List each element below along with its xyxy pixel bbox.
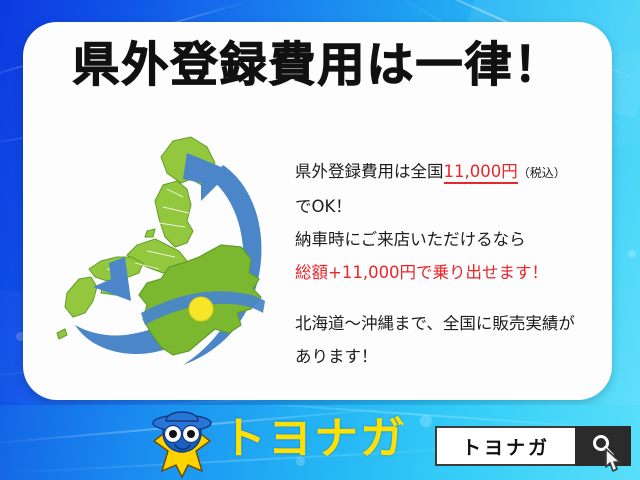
trademark-mark: " [398, 419, 404, 434]
price-highlight: 11,000円 [444, 162, 518, 184]
copy-line-1-prefix: 県外登録費用は全国 [295, 162, 444, 181]
poster-canvas: 県外登録費用は一律！ [0, 0, 640, 480]
copy-line-4: 総額+11,000円で乗り出せます！ [295, 256, 621, 289]
mouse-cursor-icon [601, 447, 627, 477]
copy-line-5: 北海道〜沖縄まで、全国に販売実績が [295, 307, 621, 340]
mascot-hat-crown [166, 412, 198, 421]
location-marker-dot [189, 297, 213, 321]
search-input[interactable]: トヨナガ [435, 426, 575, 466]
copy-line-2: でOK！ [295, 190, 621, 223]
japan-map-illustration [55, 127, 290, 402]
page-title: 県外登録費用は一律！ [23, 42, 612, 89]
search-input-value: トヨナガ [462, 433, 550, 460]
copy-block: 県外登録費用は全国11,000円（税込） でOK！ 納車時にご来店いただけるなら… [295, 155, 621, 373]
mascot-icon [140, 407, 224, 479]
brand-logo-text: トヨナガ [222, 405, 406, 466]
copy-line-6: あります！ [295, 340, 621, 373]
tax-note: （税込） [518, 166, 566, 180]
copy-line-1: 県外登録費用は全国11,000円（税込） [295, 155, 621, 190]
copy-spacer [295, 289, 621, 307]
content-card: 県外登録費用は一律！ [23, 22, 612, 400]
copy-line-3: 納車時にご来店いただけるなら [295, 223, 621, 256]
brand-banner: トヨナガ " トヨナガ [0, 405, 640, 480]
search-button[interactable] [575, 426, 631, 466]
search-widget[interactable]: トヨナガ [435, 426, 631, 466]
